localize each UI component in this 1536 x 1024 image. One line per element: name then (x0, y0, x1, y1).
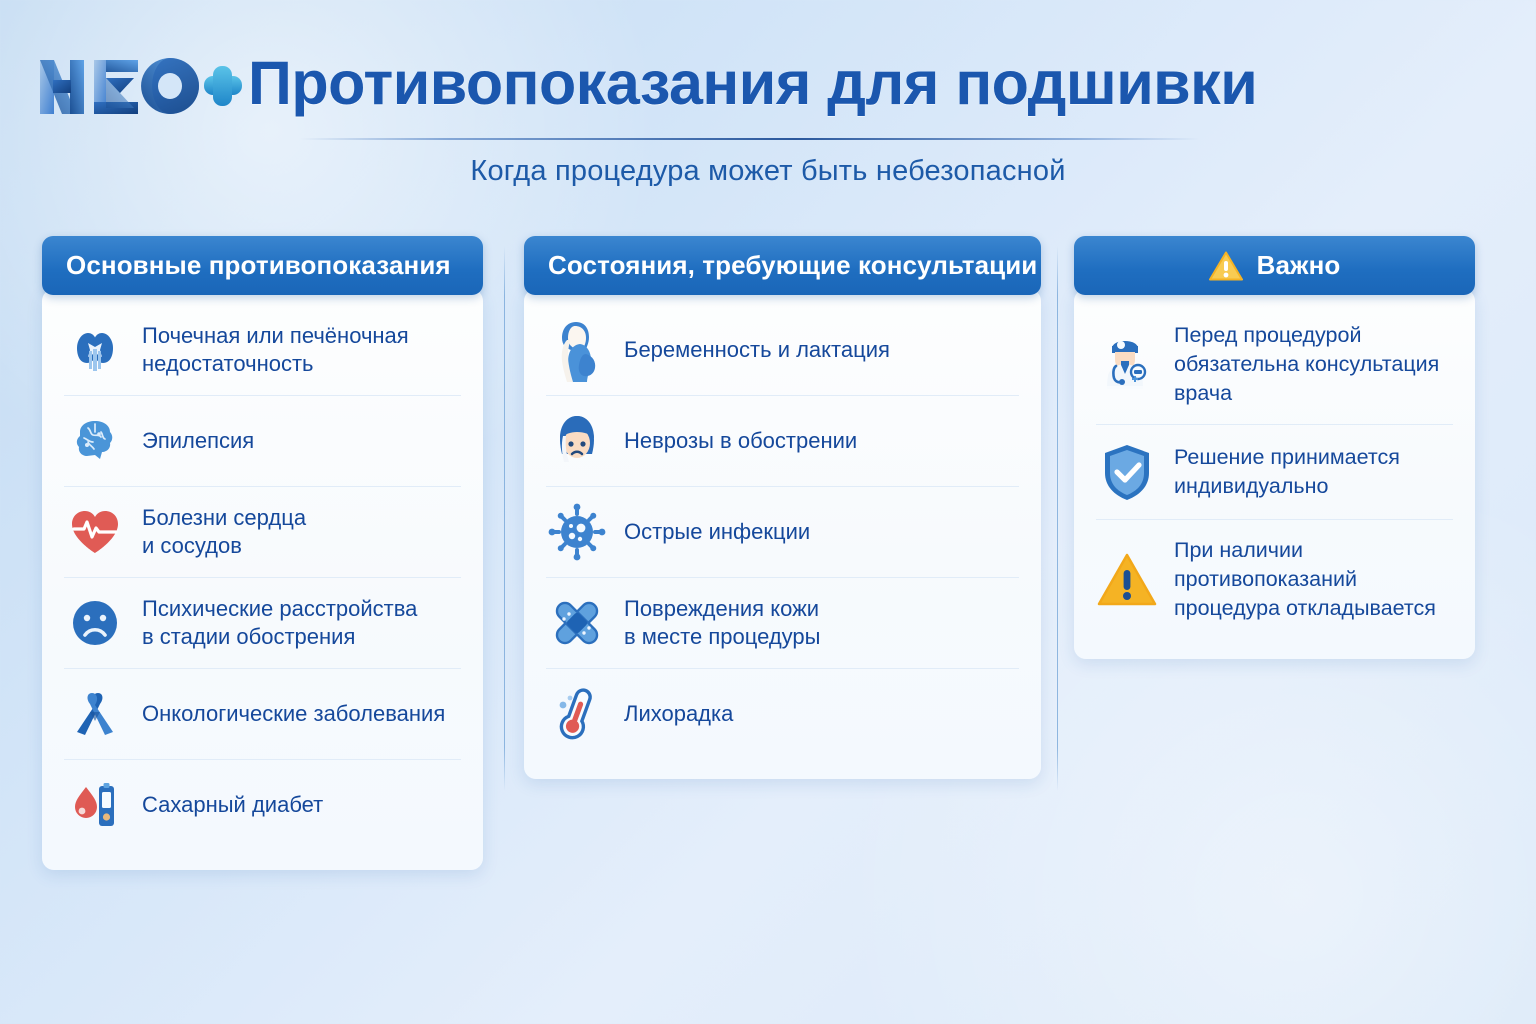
list-item-label: Онкологические заболевания (142, 700, 445, 728)
thermometer-icon (546, 683, 608, 745)
card-header-important: Важно (1074, 236, 1475, 295)
sad-face-icon (64, 592, 126, 654)
warning-triangle-icon (1209, 249, 1243, 283)
logo-letter-n (40, 60, 84, 114)
virus-icon (546, 501, 608, 563)
list-item-label: Повреждения кожи в месте процедуры (624, 595, 820, 651)
list-item-label: Перед процедурой обязательна консультаци… (1174, 321, 1439, 408)
list-item-label: При наличии противопоказаний процедура о… (1174, 536, 1436, 623)
card-title: Состояния, требующие консультации (548, 250, 1037, 281)
brand-logo-neo-plus (34, 52, 242, 122)
heart-pulse-icon (64, 501, 126, 563)
card-header-main-contraindications: Основные противопоказания (42, 236, 483, 295)
list-item[interactable]: Онкологические заболевания (64, 669, 461, 760)
list-item-label: Лихорадка (624, 700, 733, 728)
card-header-conditions: Состояния, требующие консультации (524, 236, 1041, 295)
list-item[interactable]: Эпилепсия (64, 396, 461, 487)
card-body-main-contraindications: Почечная или печёночная недостаточность (42, 289, 483, 870)
list-item-label: Сахарный диабет (142, 791, 323, 819)
list-item-label: Болезни сердца и сосудов (142, 504, 306, 560)
list-item-label: Психические расстройства в стадии обостр… (142, 595, 417, 651)
list-item[interactable]: Решение принимается индивидуально (1096, 425, 1453, 520)
list-item[interactable]: Беременность и лактация (546, 305, 1019, 396)
card-body-important: Перед процедурой обязательна консультаци… (1074, 289, 1475, 659)
shield-check-icon (1096, 441, 1158, 503)
card-important: Важно (1074, 236, 1475, 659)
brain-icon (64, 410, 126, 472)
list-item[interactable]: Неврозы в обострении (546, 396, 1019, 487)
list-item[interactable]: Повреждения кожи в месте процедуры (546, 578, 1019, 669)
list-item-label: Неврозы в обострении (624, 427, 857, 455)
warning-triangle-icon (1096, 549, 1158, 611)
blood-drop-glucometer-icon (64, 774, 126, 836)
kidneys-icon (64, 319, 126, 381)
list-item[interactable]: Почечная или печёночная недостаточность (64, 305, 461, 396)
logo-letter-e (94, 60, 138, 114)
list-item-label: Почечная или печёночная недостаточность (142, 322, 409, 378)
card-conditions-needing-consultation: Состояния, требующие консультации Береме… (524, 236, 1041, 779)
list-item[interactable]: Острые инфекции (546, 487, 1019, 578)
page-subtitle: Когда процедура может быть небезопасной (0, 155, 1536, 188)
list-item[interactable]: Сахарный диабет (64, 760, 461, 850)
list-item[interactable]: Болезни сердца и сосудов (64, 487, 461, 578)
doctor-icon (1096, 334, 1158, 396)
card-main-contraindications: Основные противопоказания Почечная или п… (42, 236, 483, 870)
list-item[interactable]: Лихорадка (546, 669, 1019, 759)
page-header: Противопоказания для подшивки Когда проц… (0, 0, 1536, 210)
pregnant-woman-icon (546, 319, 608, 381)
list-item-label: Беременность и лактация (624, 336, 890, 364)
page-title: Противопоказания для подшивки (248, 48, 1257, 118)
awareness-ribbon-icon (64, 683, 126, 745)
distressed-woman-icon (546, 410, 608, 472)
card-body-conditions: Беременность и лактация Неврозы в обостр… (524, 289, 1041, 779)
column-divider-2 (1057, 246, 1058, 791)
card-title: Важно (1257, 250, 1341, 281)
bandages-icon (546, 592, 608, 654)
list-item[interactable]: При наличии противопоказаний процедура о… (1096, 520, 1453, 639)
list-item[interactable]: Перед процедурой обязательна консультаци… (1096, 305, 1453, 425)
list-item-label: Эпилепсия (142, 427, 254, 455)
logo-plus-symbol (204, 66, 242, 106)
card-title: Основные противопоказания (66, 250, 451, 281)
list-item-label: Решение принимается индивидуально (1174, 443, 1400, 501)
logo-letter-o (141, 58, 199, 114)
list-item[interactable]: Психические расстройства в стадии обостр… (64, 578, 461, 669)
title-divider-rule (300, 138, 1200, 140)
list-item-label: Острые инфекции (624, 518, 810, 546)
column-divider-1 (504, 246, 505, 791)
